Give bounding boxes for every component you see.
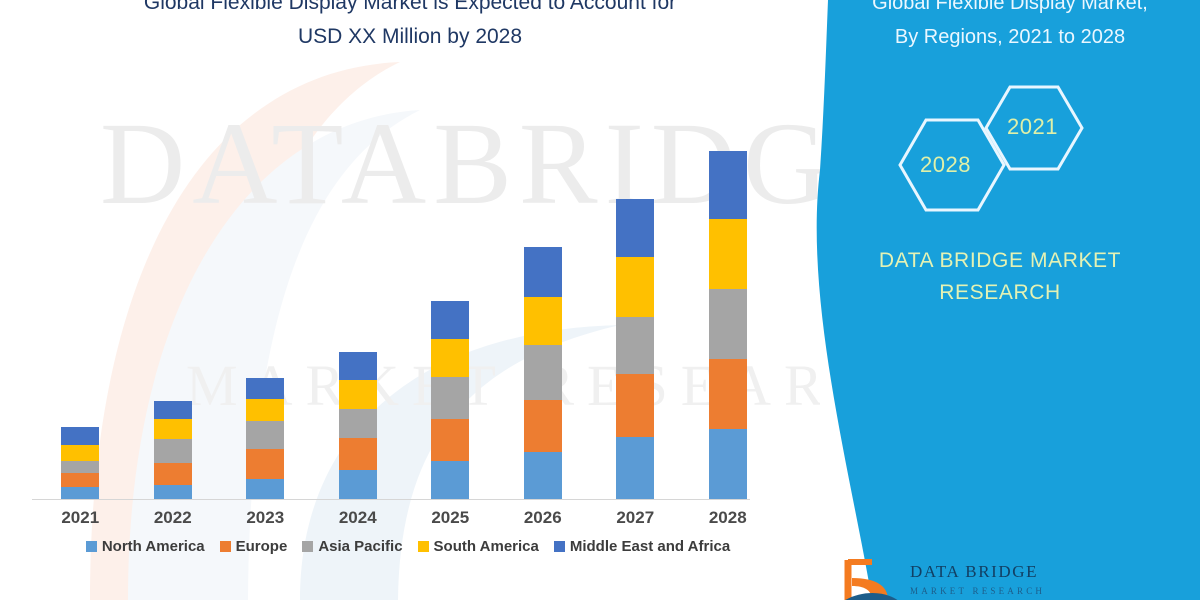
bar-segment-2027-south-america[interactable] [616,257,654,317]
bar-segment-2021-middle-east-and-africa[interactable] [61,427,99,445]
bar-2021[interactable] [61,427,99,499]
chart-title-line-2: USD XX Million by 2028 [60,20,760,54]
brand-line-2: RESEARCH [800,277,1200,309]
legend-item-south-america[interactable]: South America [418,538,539,555]
bar-segment-2025-europe[interactable] [431,419,469,461]
bar-segment-2023-north-america[interactable] [246,479,284,499]
bar-segment-2024-middle-east-and-africa[interactable] [339,352,377,380]
bar-segment-2028-south-america[interactable] [709,219,747,289]
x-axis-label-2025: 2025 [415,508,485,528]
legend-label: Asia Pacific [318,538,402,555]
bar-segment-2021-north-america[interactable] [61,487,99,499]
bar-segment-2023-middle-east-and-africa[interactable] [246,378,284,399]
bar-segment-2026-south-america[interactable] [524,297,562,345]
x-axis-line [32,499,750,500]
hexagon-2021-label: 2021 [1007,114,1058,140]
legend-label: North America [102,538,205,555]
bar-segment-2023-asia-pacific[interactable] [246,421,284,449]
right-panel: Global Flexible Display Market, By Regio… [780,0,1200,600]
legend-label: Middle East and Africa [570,538,730,555]
bar-segment-2026-europe[interactable] [524,400,562,452]
legend-item-middle-east-and-africa[interactable]: Middle East and Africa [554,538,730,555]
bar-segment-2023-europe[interactable] [246,449,284,479]
bar-segment-2022-north-america[interactable] [154,485,192,499]
bar-segment-2028-asia-pacific[interactable] [709,289,747,359]
bar-segment-2025-asia-pacific[interactable] [431,377,469,419]
bar-segment-2024-south-america[interactable] [339,380,377,409]
logo-wordmark: DATA BRIDGE [910,562,1038,582]
company-logo: DATA BRIDGE MARKET RESEARCH [842,556,1102,600]
bar-segment-2027-north-america[interactable] [616,437,654,499]
chart-legend: North AmericaEuropeAsia PacificSouth Ame… [28,538,788,555]
bar-segment-2028-north-america[interactable] [709,429,747,499]
x-axis-label-2022: 2022 [138,508,208,528]
bar-segment-2024-asia-pacific[interactable] [339,409,377,438]
legend-swatch-icon [302,541,313,552]
brand-line-1: DATA BRIDGE MARKET [800,245,1200,277]
bar-segment-2022-south-america[interactable] [154,419,192,439]
bar-segment-2028-europe[interactable] [709,359,747,429]
legend-swatch-icon [418,541,429,552]
panel-title: Global Flexible Display Market, By Regio… [820,0,1200,54]
chart-title: Global Flexible Display Market is Expect… [60,0,760,54]
x-axis-label-2028: 2028 [693,508,763,528]
bar-segment-2027-middle-east-and-africa[interactable] [616,199,654,257]
bar-segment-2026-asia-pacific[interactable] [524,345,562,400]
bar-2027[interactable] [616,199,654,499]
bar-2028[interactable] [709,151,747,499]
x-axis-label-2024: 2024 [323,508,393,528]
bar-2024[interactable] [339,352,377,499]
bar-segment-2021-europe[interactable] [61,473,99,487]
legend-label: Europe [236,538,288,555]
bar-segment-2022-middle-east-and-africa[interactable] [154,401,192,419]
x-axis-label-2021: 2021 [45,508,115,528]
panel-title-line-2: By Regions, 2021 to 2028 [820,20,1200,54]
logo-subtitle: MARKET RESEARCH [910,586,1045,596]
panel-title-line-1: Global Flexible Display Market, [820,0,1200,20]
bar-segment-2024-europe[interactable] [339,438,377,470]
legend-item-asia-pacific[interactable]: Asia Pacific [302,538,402,555]
bar-segment-2025-south-america[interactable] [431,339,469,377]
bar-2023[interactable] [246,378,284,499]
bar-2022[interactable] [154,401,192,499]
bar-2025[interactable] [431,301,469,499]
bar-segment-2027-europe[interactable] [616,374,654,437]
bar-segment-2021-south-america[interactable] [61,445,99,461]
legend-swatch-icon [554,541,565,552]
bar-segment-2022-asia-pacific[interactable] [154,439,192,463]
hexagon-2028-label: 2028 [920,152,971,178]
legend-item-europe[interactable]: Europe [220,538,288,555]
bar-segment-2023-south-america[interactable] [246,399,284,421]
bar-segment-2025-north-america[interactable] [431,461,469,499]
x-axis-labels: 20212022202320242025202620272028 [32,508,772,534]
brand-name: DATA BRIDGE MARKET RESEARCH [800,245,1200,309]
legend-item-north-america[interactable]: North America [86,538,205,555]
bar-group [32,96,772,499]
hexagon-group: 2028 2021 [890,80,1130,230]
bar-segment-2025-middle-east-and-africa[interactable] [431,301,469,339]
x-axis-label-2027: 2027 [600,508,670,528]
bar-2026[interactable] [524,247,562,499]
legend-swatch-icon [220,541,231,552]
bar-segment-2026-north-america[interactable] [524,452,562,499]
bar-segment-2021-asia-pacific[interactable] [61,461,99,473]
bar-segment-2026-middle-east-and-africa[interactable] [524,247,562,297]
x-axis-label-2023: 2023 [230,508,300,528]
legend-label: South America [434,538,539,555]
x-axis-label-2026: 2026 [508,508,578,528]
bar-segment-2022-europe[interactable] [154,463,192,485]
bar-segment-2028-middle-east-and-africa[interactable] [709,151,747,219]
legend-swatch-icon [86,541,97,552]
infographic-root: DATABRIDGE MARKET RESEARCH Global Flexib… [0,0,1200,600]
bar-segment-2024-north-america[interactable] [339,470,377,499]
chart-title-line-1: Global Flexible Display Market is Expect… [60,0,760,20]
bar-segment-2027-asia-pacific[interactable] [616,317,654,374]
